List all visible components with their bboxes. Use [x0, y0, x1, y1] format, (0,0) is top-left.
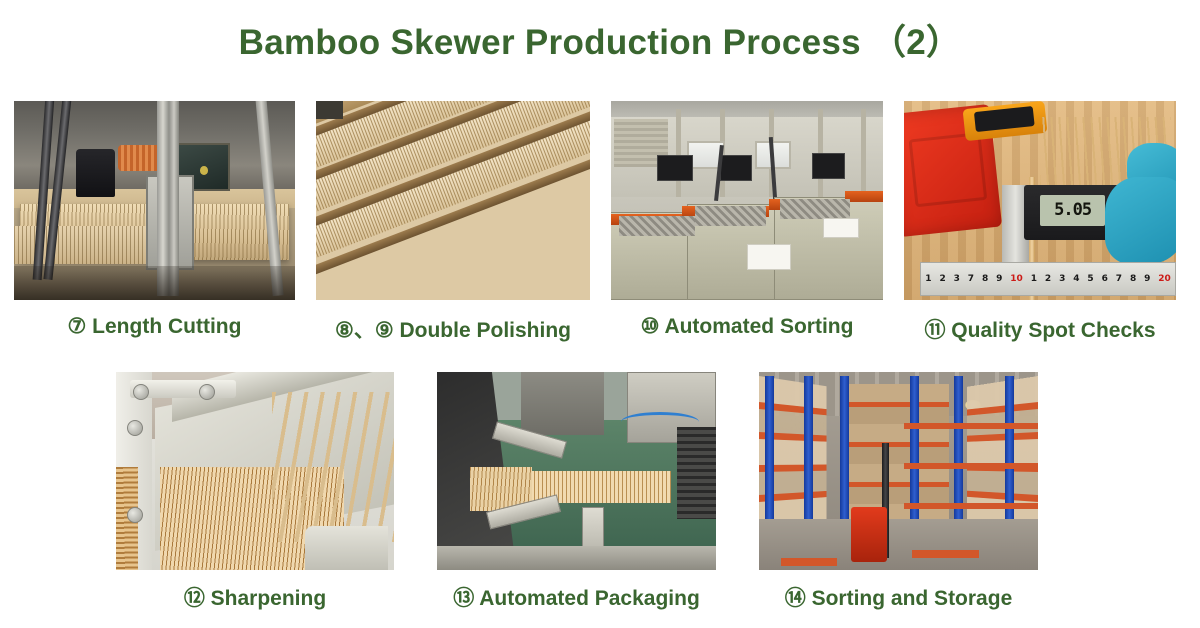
steel-ruler: 1 2 3 7 8 9 10 1 2 3 4 5 6 7 8 9 20	[920, 262, 1176, 296]
caption-sharpening: ⑫ Sharpening	[184, 582, 326, 612]
caption-automated-packaging: ⑬ Automated Packaging	[453, 582, 700, 612]
ruler-mark: 2	[939, 274, 945, 284]
ruler-mark: 7	[1116, 274, 1122, 284]
machine-sign-1	[747, 244, 791, 270]
ruler-mark: 2	[1045, 274, 1051, 284]
photo-double-polishing	[316, 101, 590, 300]
rack-beam-1	[904, 423, 1038, 429]
machine-sign-2	[823, 218, 858, 238]
ruler-mark: 9	[1144, 274, 1150, 284]
ruler-mark: 7	[968, 274, 974, 284]
figure-sorting-and-storage: ⑭ Sorting and Storage	[759, 372, 1038, 612]
caption-double-polishing: ⑧、⑨ Double Polishing	[335, 314, 571, 344]
ruler-mark-highlight: 20	[1158, 274, 1171, 284]
gloved-hand	[1105, 177, 1176, 265]
ruler-mark: 3	[954, 274, 960, 284]
mesh-tray-3	[780, 199, 851, 219]
figure-double-polishing: ⑧、⑨ Double Polishing	[316, 101, 590, 344]
rack-beam-2	[904, 463, 1038, 469]
page-title: Bamboo Skewer Production Process （2）	[0, 14, 1200, 65]
photo-automated-packaging	[437, 372, 716, 570]
caption-sorting-and-storage: ⑭ Sorting and Storage	[785, 582, 1013, 612]
floor-pallet-left	[781, 558, 837, 566]
ruler-mark: 3	[1059, 274, 1065, 284]
caliper-display: 5.05	[1040, 195, 1105, 227]
mesh-tray-2	[695, 206, 766, 226]
ruler-mark: 8	[982, 274, 988, 284]
ruler-mark: 9	[996, 274, 1002, 284]
ruler-mark: 1	[1031, 274, 1037, 284]
photo-sorting-and-storage	[759, 372, 1038, 570]
figure-automated-packaging: ⑬ Automated Packaging	[437, 372, 716, 612]
bolt-4	[127, 507, 143, 523]
photo-sharpening	[116, 372, 394, 570]
photo-automated-sorting	[611, 101, 883, 300]
vent-grille	[677, 427, 716, 518]
comb-separator	[272, 392, 394, 542]
skewer-bundle-main	[510, 471, 672, 503]
bottom-row: ⑫ Sharpening ⑬ Automated Packaging	[116, 372, 1084, 612]
caption-automated-sorting: ⑩ Automated Sorting	[641, 314, 854, 339]
foreground-shadow	[14, 266, 295, 300]
figure-automated-sorting: ⑩ Automated Sorting	[611, 101, 883, 339]
base-rail	[437, 546, 716, 570]
red-forklift	[851, 507, 887, 562]
figure-length-cutting: ⑦ Length Cutting	[14, 101, 295, 339]
control-monitor-2	[720, 155, 753, 181]
bolt-1	[133, 384, 149, 400]
black-canister	[76, 149, 115, 197]
mesh-tray-1	[619, 216, 695, 236]
ruler-mark: 5	[1087, 274, 1093, 284]
photo-length-cutting	[14, 101, 295, 300]
upper-cross-frame	[521, 372, 605, 435]
figure-sharpening: ⑫ Sharpening	[116, 372, 394, 612]
ruler-mark: 1	[925, 274, 931, 284]
ruler-mark-highlight: 10	[1010, 274, 1023, 284]
base-foot-plate	[305, 526, 388, 570]
caption-length-cutting: ⑦ Length Cutting	[68, 314, 242, 339]
dark-corner	[316, 101, 343, 119]
control-monitor-3	[812, 153, 845, 179]
rack-beam-3	[904, 503, 1038, 509]
photo-quality-spot-checks: 5.05 1 2 3 7 8 9 10 1 2 3 4 5 6 7 8 9 20	[904, 101, 1176, 300]
conveyor-edge-4	[845, 191, 883, 202]
top-row: ⑦ Length Cutting ⑧、⑨ Double Polishing	[14, 101, 1188, 344]
ruler-mark: 8	[1130, 274, 1136, 284]
caption-quality-spot-checks: ⑪ Quality Spot Checks	[924, 314, 1155, 344]
blue-air-tubing	[621, 412, 699, 432]
figure-quality-spot-checks: 5.05 1 2 3 7 8 9 10 1 2 3 4 5 6 7 8 9 20	[904, 101, 1176, 344]
bolt-3	[127, 420, 143, 436]
control-monitor-1	[657, 155, 692, 181]
ruler-mark: 6	[1102, 274, 1108, 284]
floor-pallet-right	[912, 550, 979, 558]
ruler-mark: 4	[1073, 274, 1079, 284]
